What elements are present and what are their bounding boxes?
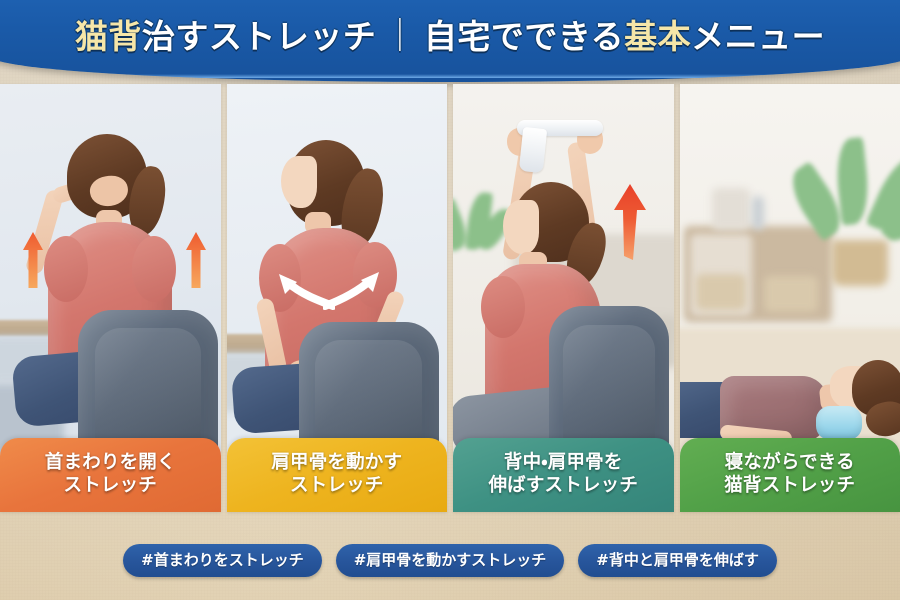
blur-basket	[696, 274, 746, 310]
title-accent-2: 基本	[624, 17, 691, 56]
panel-1-caption-line1: 首まわりを開く	[45, 452, 176, 473]
blur-basket-2	[764, 276, 818, 312]
panel-2-caption-line1: 肩甲骨を動かす	[271, 452, 402, 473]
title-divider: ｜	[383, 19, 417, 52]
head-profile	[503, 200, 539, 254]
arrow-up-right-icon	[185, 232, 207, 288]
panel-2-caption-line2: ストレッチ	[290, 475, 384, 496]
blur-planter	[832, 240, 888, 286]
panel-1-caption: 首まわりを開く ストレッチ	[0, 438, 221, 512]
blur-bottle	[752, 196, 764, 230]
towel-hanging-end	[519, 127, 547, 173]
panel-4-caption-line2: 猫背ストレッチ	[724, 475, 855, 496]
panel-4-caption-line1: 寝ながらできる	[725, 452, 855, 473]
panel-2-shoulder-blade-stretch[interactable]: 肩甲骨を動かす ストレッチ	[227, 84, 448, 512]
sleeve-left	[44, 236, 88, 302]
title-accent-1: 猫背	[75, 17, 142, 56]
foam-roller-prop	[816, 406, 862, 440]
arrow-shoulder-blade-right-icon	[323, 270, 381, 314]
panel-4-caption: 寝ながらできる 猫背ストレッチ	[680, 438, 900, 512]
banner-highlight	[0, 74, 900, 78]
tag-pill-1[interactable]: #首まわりをストレッチ	[123, 544, 322, 577]
title-main-1: 治すストレッチ	[142, 17, 377, 56]
head-profile	[281, 156, 317, 208]
panel-2-caption: 肩甲骨を動かす ストレッチ	[227, 438, 448, 512]
panel-3-caption: 背中・肩甲骨を 伸ばすストレッチ	[453, 438, 674, 512]
title-main-2: 自宅でできる	[424, 17, 624, 56]
tag-pill-2[interactable]: #肩甲骨を動かすストレッチ	[336, 544, 565, 577]
panel-3-caption-line1: 背中・肩甲骨を	[504, 452, 623, 473]
infographic-root: 猫背治すストレッチ｜自宅でできる基本メニュー	[0, 0, 900, 600]
sleeve-left	[481, 276, 525, 338]
title-main-3: メニュー	[691, 17, 825, 56]
panel-3-back-stretch[interactable]: 背中・肩甲骨を 伸ばすストレッチ	[453, 84, 674, 512]
page-title: 猫背治すストレッチ｜自宅でできる基本メニュー	[0, 20, 900, 53]
panel-4-lying-stretch[interactable]: 寝ながらできる 猫背ストレッチ	[680, 84, 900, 512]
tag-pill-3[interactable]: #背中と肩甲骨を伸ばす	[578, 544, 777, 577]
arrow-up-red-icon	[613, 184, 647, 260]
panel-strip: 首まわりを開く ストレッチ	[0, 84, 900, 512]
sleeve-right	[132, 236, 176, 302]
tag-pill-row: #首まわりをストレッチ #肩甲骨を動かすストレッチ #背中と肩甲骨を伸ばす	[0, 540, 900, 580]
arrow-up-left-icon	[22, 232, 44, 288]
blur-book	[712, 188, 750, 230]
plant-left	[453, 190, 499, 270]
panel-1-caption-line2: ストレッチ	[63, 475, 157, 496]
panel-1-neck-stretch[interactable]: 首まわりを開く ストレッチ	[0, 84, 221, 512]
panel-3-caption-line2: 伸ばすストレッチ	[488, 475, 638, 496]
